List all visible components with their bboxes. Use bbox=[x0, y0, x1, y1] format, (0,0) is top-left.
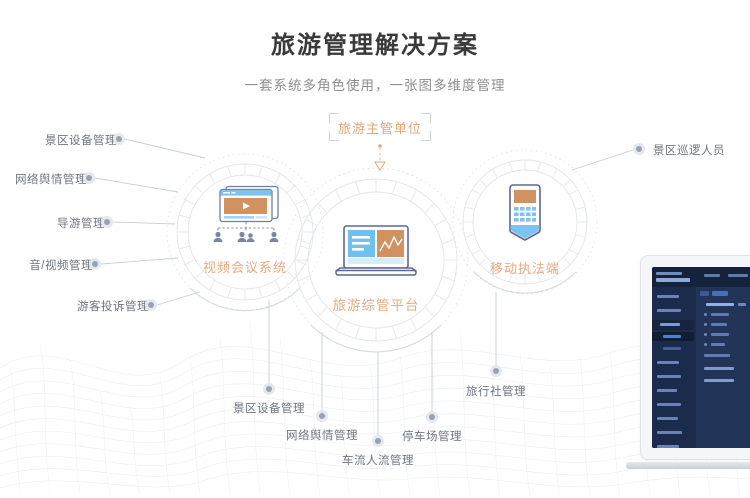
node-tourism-platform[interactable]: 旅游综管平台 bbox=[316, 224, 436, 314]
dot-left-4 bbox=[89, 258, 101, 270]
connector-right-1 bbox=[572, 149, 636, 170]
authority-arrow-head bbox=[375, 162, 385, 170]
video-window-icon bbox=[198, 183, 292, 245]
authority-label: 旅游主管单位 bbox=[329, 113, 431, 141]
node-mobile-enforcement[interactable]: 移动执法端 bbox=[475, 182, 575, 277]
label-right-1: 景区巡逻人员 bbox=[653, 142, 725, 158]
node-label-video-conference: 视频会议系统 bbox=[185, 257, 305, 276]
label-bottom-4: 停车场管理 bbox=[391, 428, 473, 444]
dot-bottom-5 bbox=[490, 365, 502, 377]
dot-left-2 bbox=[83, 172, 95, 184]
mobile-device-icon bbox=[497, 182, 553, 246]
connector-left-4 bbox=[101, 258, 178, 264]
label-left-4: 音/视频管理 bbox=[29, 257, 93, 273]
connector-left-3 bbox=[113, 222, 175, 224]
laptop-dashboard-icon bbox=[327, 224, 425, 282]
node-label-tourism-platform: 旅游综管平台 bbox=[316, 294, 436, 314]
label-bottom-5: 旅行社管理 bbox=[455, 383, 537, 399]
dot-bottom-3 bbox=[372, 435, 384, 447]
label-left-5: 游客投诉管理 bbox=[77, 298, 149, 314]
dashboard-main-panel bbox=[696, 287, 750, 448]
label-bottom-3: 车流人流管理 bbox=[337, 452, 419, 468]
node-label-mobile-enforcement: 移动执法端 bbox=[475, 258, 575, 277]
dot-bottom-1 bbox=[263, 383, 275, 395]
page-subtitle: 一套系统多角色使用，一张图多维度管理 bbox=[0, 74, 750, 94]
label-bottom-2: 网络舆情管理 bbox=[281, 427, 363, 443]
label-left-3: 导游管理 bbox=[57, 215, 105, 231]
dot-left-5 bbox=[145, 299, 157, 311]
page-title: 旅游管理解决方案 bbox=[0, 25, 750, 60]
laptop-base bbox=[626, 462, 750, 469]
dashboard-sidebar bbox=[652, 287, 694, 448]
connector-left-2 bbox=[95, 178, 178, 192]
connector-left-1 bbox=[125, 139, 205, 158]
background-mesh-decoration bbox=[0, 308, 750, 498]
label-left-1: 景区设备管理 bbox=[45, 132, 117, 148]
dot-bottom-4 bbox=[426, 411, 438, 423]
authority-arrow-dot bbox=[378, 144, 382, 148]
authority-box[interactable]: 旅游主管单位 bbox=[329, 113, 431, 141]
dot-right-1 bbox=[633, 143, 645, 155]
label-bottom-1: 景区设备管理 bbox=[228, 400, 310, 416]
node-video-conference[interactable]: 视频会议系统 bbox=[185, 183, 305, 276]
laptop-lid bbox=[640, 255, 750, 460]
header: 旅游管理解决方案 一套系统多角色使用，一张图多维度管理 bbox=[0, 0, 750, 94]
dot-left-3 bbox=[101, 216, 113, 228]
dot-left-1 bbox=[113, 133, 125, 145]
dashboard-screen bbox=[652, 267, 750, 448]
dot-bottom-2 bbox=[316, 410, 328, 422]
infographic-canvas: 旅游管理解决方案 一套系统多角色使用，一张图多维度管理 bbox=[0, 0, 750, 498]
connector-left-5 bbox=[157, 292, 200, 305]
label-left-2: 网络舆情管理 bbox=[15, 171, 87, 187]
dashboard-topbar bbox=[652, 267, 750, 287]
